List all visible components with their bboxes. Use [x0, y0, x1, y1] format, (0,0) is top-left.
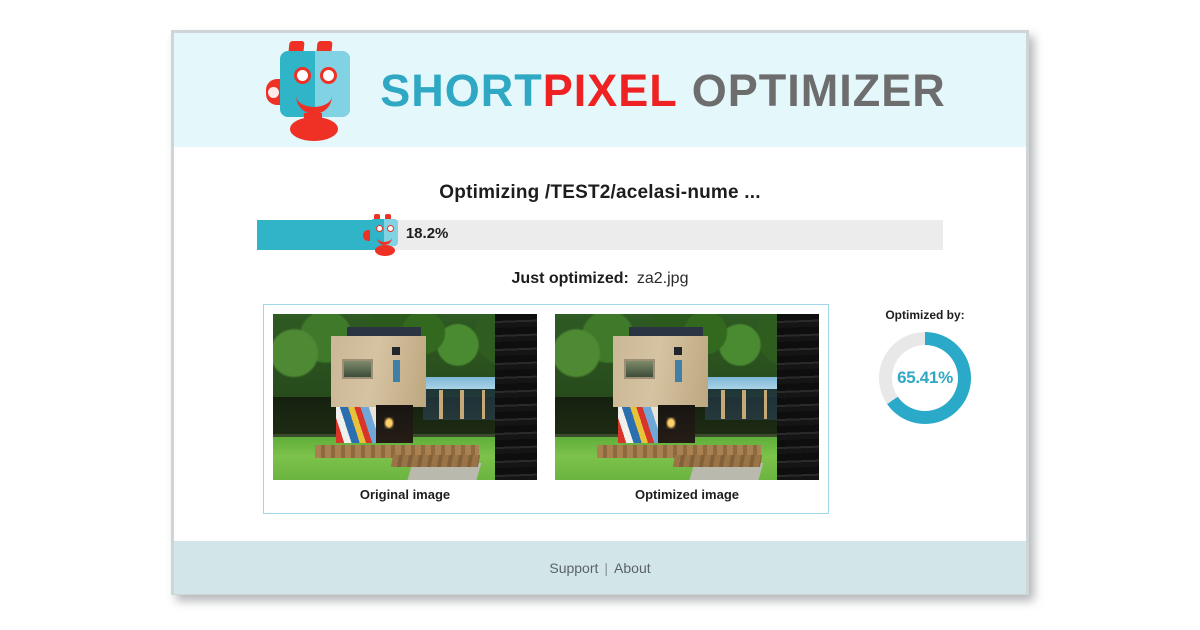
brand-optimizer-text: OPTIMIZER [692, 65, 946, 116]
scene-frame-2 [460, 390, 464, 418]
progress-percent-label: 18.2% [406, 225, 449, 242]
brand-pixel-text: PIXEL [543, 65, 678, 116]
scene-dark-siding [777, 314, 819, 480]
scene-canopy [705, 377, 784, 389]
shortpixel-optimizer-window: SHORTPIXELOPTIMIZER Optimizing /TEST2/ac… [171, 30, 1029, 595]
footer-separator: | [604, 560, 608, 576]
scene-window-slim [393, 360, 400, 382]
scene-frame-3 [482, 390, 486, 418]
shortpixel-robot-logo-icon [264, 39, 360, 141]
comparison-row: Original image [174, 304, 1026, 519]
mini-robot-eye-left [376, 225, 383, 232]
original-image-thumbnail[interactable] [273, 314, 537, 480]
optimizing-status-title: Optimizing /TEST2/acelasi-nume ... [174, 147, 1026, 204]
scene-window-slim [675, 360, 682, 382]
optimized-by-donut-chart: 65.41% [879, 332, 971, 424]
donut-center: 65.41% [892, 345, 958, 411]
scene-doorway [376, 405, 413, 443]
mini-robot-base [375, 245, 395, 256]
optimization-progress-bar: 18.2% [257, 220, 943, 250]
brand-short-text: SHORT [380, 65, 543, 116]
scene-deck-lower [391, 455, 480, 467]
scene-interior-lamp [384, 417, 395, 429]
mini-robot-eye-right [387, 225, 394, 232]
scene-canopy [423, 377, 502, 389]
scene-frame-1 [439, 390, 443, 418]
scene-frame-2 [742, 390, 746, 418]
scene-interior-lamp [666, 417, 677, 429]
scene-window-large [624, 359, 656, 379]
about-link[interactable]: About [614, 560, 651, 576]
scene-window-tiny [392, 347, 400, 355]
optimized-image-thumbnail[interactable] [555, 314, 819, 480]
scene-window-large [342, 359, 374, 379]
scene-window-tiny [674, 347, 682, 355]
screenshot-stage: SHORTPIXELOPTIMIZER Optimizing /TEST2/ac… [0, 0, 1200, 630]
scene-mural [618, 407, 658, 444]
optimized-image-caption: Optimized image [555, 487, 819, 502]
robot-base [290, 117, 338, 141]
just-optimized-label: Just optimized: [512, 270, 629, 287]
original-image-cell: Original image [273, 314, 537, 502]
app-header: SHORTPIXELOPTIMIZER [174, 33, 1026, 147]
app-footer: Support | About [174, 541, 1026, 594]
image-comparison-panel: Original image [263, 304, 829, 514]
scene-frame-3 [764, 390, 768, 418]
scene-doorway [658, 405, 695, 443]
app-body: Optimizing /TEST2/acelasi-nume ... 18.2% [174, 147, 1026, 541]
support-link[interactable]: Support [549, 560, 598, 576]
brand-title: SHORTPIXELOPTIMIZER [380, 68, 946, 113]
optimized-image-cell: Optimized image [555, 314, 819, 502]
scene-mural [336, 407, 376, 444]
scene-deck-lower [673, 455, 762, 467]
progress-robot-marker-icon [362, 214, 402, 258]
optimized-by-donut-block: Optimized by: 65.41% [850, 308, 1000, 424]
just-optimized-row: Just optimized:za2.jpg [174, 270, 1026, 288]
optimized-by-value: 65.41% [895, 368, 955, 388]
original-image-caption: Original image [273, 487, 537, 502]
just-optimized-filename: za2.jpg [637, 270, 689, 287]
scene-frame-1 [721, 390, 725, 418]
optimized-by-label: Optimized by: [850, 308, 1000, 322]
scene-dark-siding [495, 314, 537, 480]
